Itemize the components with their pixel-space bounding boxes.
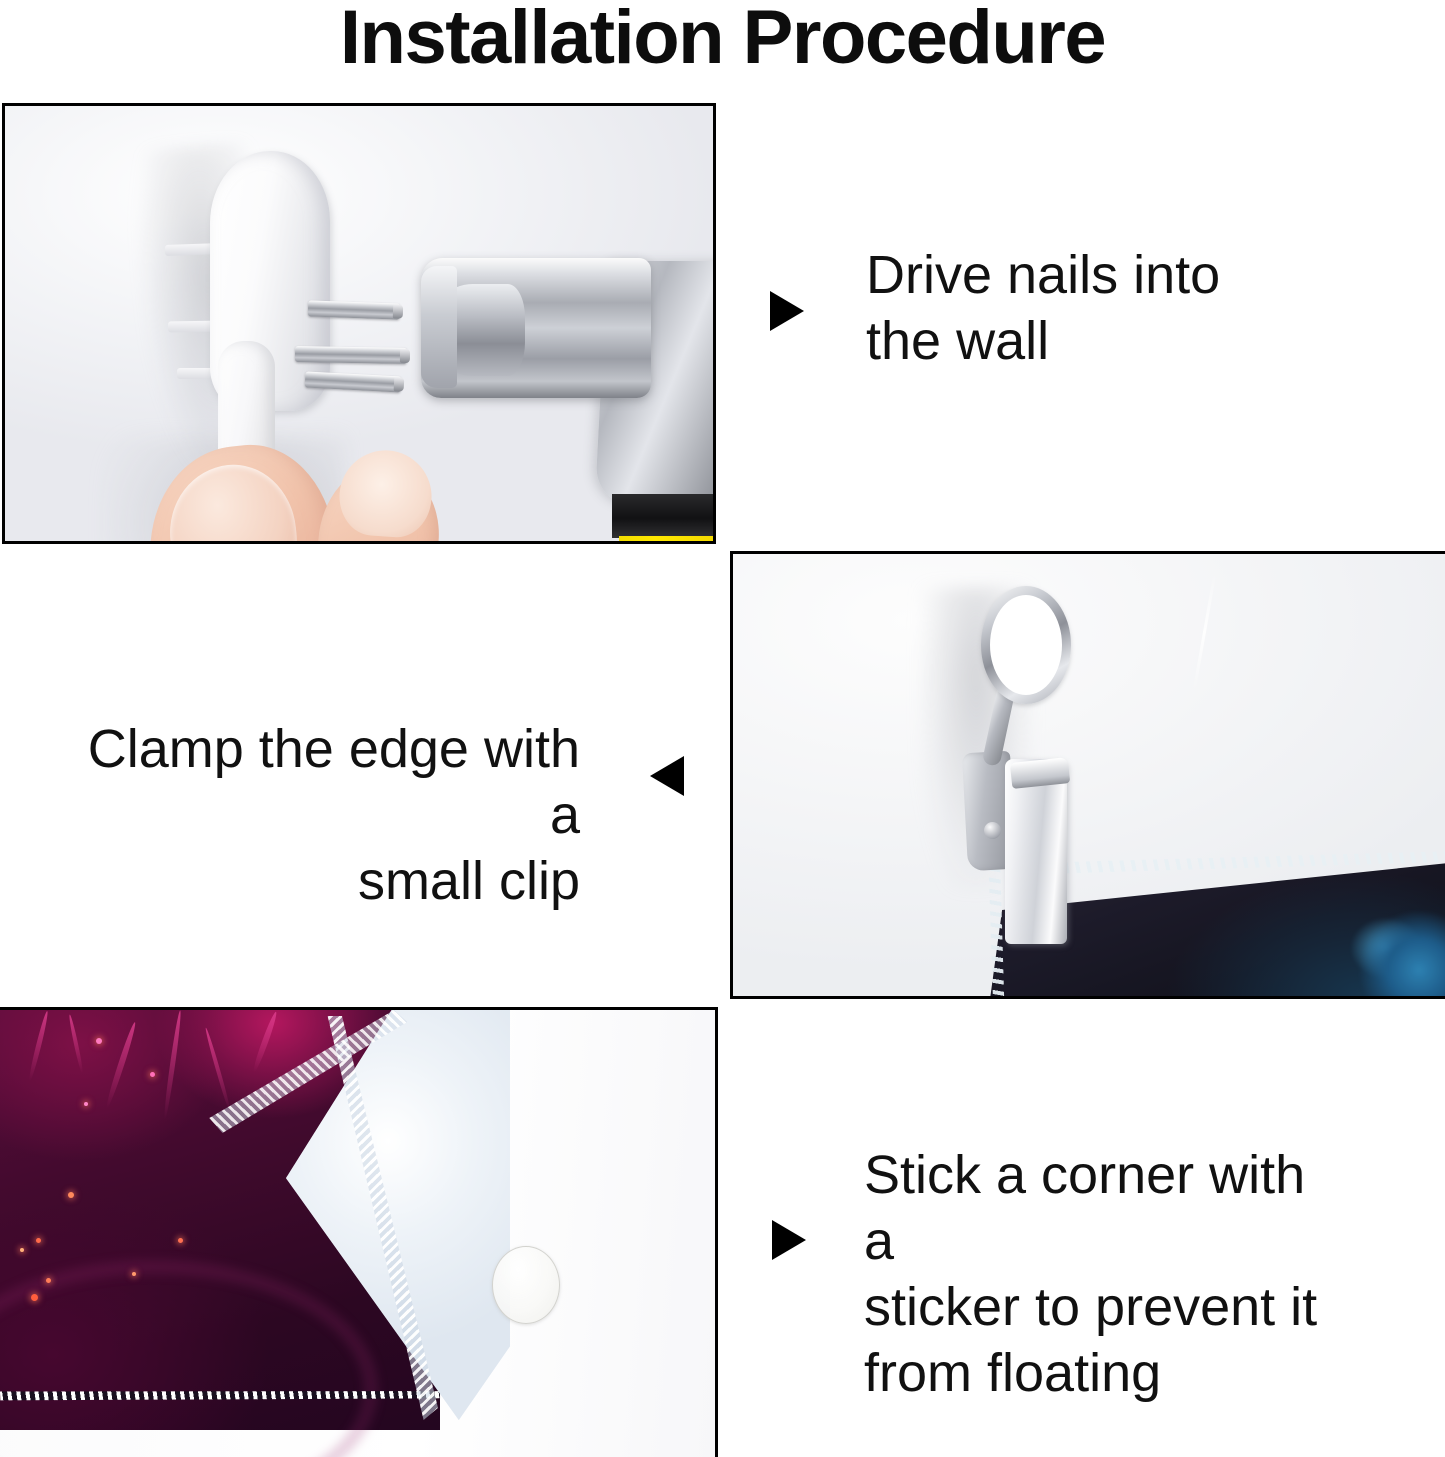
step-2-caption: Clamp the edge with a small clip <box>70 716 580 914</box>
scene-sticker-corner <box>0 1010 715 1457</box>
triangle-right-icon <box>770 291 804 331</box>
scene-hammer-nails <box>5 106 713 541</box>
step-3-caption: Stick a corner with a sticker to prevent… <box>864 1142 1334 1406</box>
nail-tip <box>393 304 403 318</box>
tapestry-pattern-spark <box>20 1248 24 1252</box>
triangle-left-icon <box>650 756 684 796</box>
tapestry-teal-detail <box>1328 904 1445 999</box>
step-3-photo-stick-corner <box>0 1007 718 1457</box>
tapestry-pattern-spark <box>68 1192 74 1198</box>
tapestry-pattern-filament <box>204 1027 232 1113</box>
scene-clip-tapestry <box>733 554 1445 996</box>
tapestry-pattern-swirl <box>0 1260 378 1457</box>
step-1-photo-drive-nails <box>2 103 716 544</box>
tapestry-pattern-spark <box>31 1294 38 1301</box>
tapestry-pattern-filament <box>68 1014 84 1074</box>
triangle-right-icon <box>772 1220 806 1260</box>
tapestry-pattern-spark <box>96 1038 102 1044</box>
thumbnail <box>163 459 302 544</box>
page-title: Installation Procedure <box>0 0 1445 82</box>
tapestry-pattern-spark <box>46 1278 51 1283</box>
tapestry-pattern-filament <box>162 1010 182 1120</box>
tapestry-pattern-spark <box>178 1238 183 1243</box>
hammer-handle <box>619 536 716 544</box>
clip-pivot-rivet <box>984 822 1001 839</box>
tapestry-pattern-filament <box>104 1021 138 1108</box>
tapestry-pattern-spark <box>150 1072 155 1077</box>
tapestry-pattern-filament <box>251 1011 279 1073</box>
tapestry-pattern-spark <box>84 1102 88 1106</box>
nail-tip <box>394 377 405 392</box>
tapestry-pattern-spark <box>36 1238 41 1243</box>
tapestry-pattern-filament <box>27 1010 49 1081</box>
nail <box>295 346 407 364</box>
hammer-grip-band <box>612 494 716 538</box>
nail-tip <box>400 349 410 363</box>
clip-hanging-ring <box>981 586 1071 704</box>
step-1-caption: Drive nails into the wall <box>866 242 1286 374</box>
tapestry-pattern-spark <box>132 1272 136 1276</box>
step-2-photo-clamp-edge <box>730 551 1445 999</box>
nail <box>308 300 401 319</box>
hammer-striking-face <box>421 266 457 388</box>
adhesive-sticker <box>492 1246 560 1324</box>
